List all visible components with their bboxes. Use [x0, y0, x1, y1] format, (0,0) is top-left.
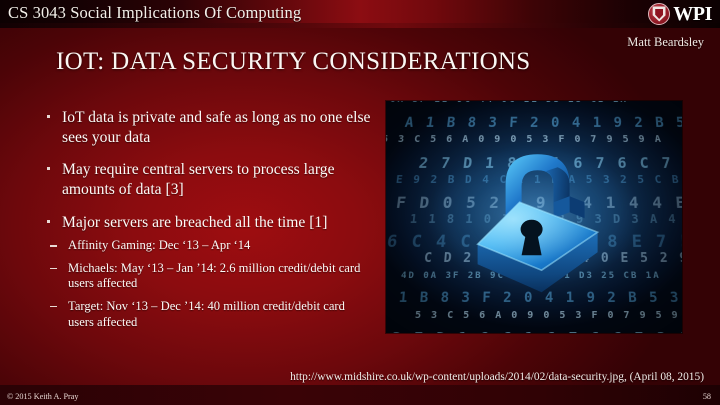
sub-list-item-label: Affinity Gaming: Dec ‘13 – Apr ‘14: [68, 238, 250, 252]
wpi-seal-icon: [648, 3, 670, 25]
wpi-logo-text: WPI: [673, 4, 712, 24]
sub-list-item-label: Target: Nov ‘13 – Dec ’14: 40 million cr…: [68, 299, 345, 329]
bullet-dot-icon: [47, 167, 50, 170]
list-item: May require central servers to process l…: [42, 160, 372, 199]
bullet-dot-icon: [47, 115, 50, 118]
sub-bullet-list: Affinity Gaming: Dec ‘13 – Apr ‘14 Micha…: [42, 238, 372, 330]
course-title: CS 3043 Social Implications Of Computing: [8, 3, 301, 23]
dash-bullet-icon: [50, 245, 57, 246]
image-citation: http://www.midshire.co.uk/wp-content/upl…: [290, 371, 704, 383]
list-item-label: IoT data is private and safe as long as …: [62, 109, 370, 146]
page-number: 58: [703, 392, 711, 401]
bullet-list: IoT data is private and safe as long as …: [42, 108, 372, 337]
wpi-logo: WPI: [648, 2, 712, 26]
dash-bullet-icon: [50, 268, 57, 269]
sub-list-item: Michaels: May ‘13 – Jan ’14: 2.6 million…: [42, 261, 372, 292]
list-item-label: May require central servers to process l…: [62, 161, 335, 198]
footer-bar: [0, 385, 720, 405]
slide-image: 4D 0A 3F 2B 9C 44 0C E1 D3 25 CB 1AA 1 B…: [386, 101, 682, 333]
bullet-dot-icon: [47, 220, 50, 223]
header-banner: CS 3043 Social Implications Of Computing: [0, 0, 720, 28]
list-item: Major servers are breached all the time …: [42, 213, 372, 233]
list-item: IoT data is private and safe as long as …: [42, 108, 372, 147]
dash-bullet-icon: [50, 306, 57, 307]
padlock-icon: [446, 140, 616, 300]
sub-list-item: Target: Nov ‘13 – Dec ’14: 40 million cr…: [42, 299, 372, 330]
author-name: Matt Beardsley: [627, 35, 704, 50]
hex-text-row: 2 7 D 1 8 C 1 6 7 6 C 7 3 A 4 E 1: [391, 329, 682, 333]
hex-text-row: 5 3 C 5 6 A 0 9 0 5 3 F 0 7 9 5 9 A: [415, 310, 682, 321]
page-title: IOT: DATA SECURITY CONSIDERATIONS: [56, 48, 531, 76]
list-item-label: Major servers are breached all the time …: [62, 214, 327, 231]
slide: CS 3043 Social Implications Of Computing…: [0, 0, 720, 405]
sub-list-item: Affinity Gaming: Dec ‘13 – Apr ‘14: [42, 238, 372, 254]
hex-text-row: 4D 0A 3F 2B 9C 44 0C E1 D3 25 CB 1A: [386, 101, 628, 105]
hex-text-row: A 1 B 8 3 F 2 0 4 1 9 2 B 5 3 E 1: [404, 115, 682, 131]
copyright-notice: © 2015 Keith A. Pray: [7, 392, 79, 401]
sub-list-item-label: Michaels: May ‘13 – Jan ’14: 2.6 million…: [68, 261, 360, 291]
